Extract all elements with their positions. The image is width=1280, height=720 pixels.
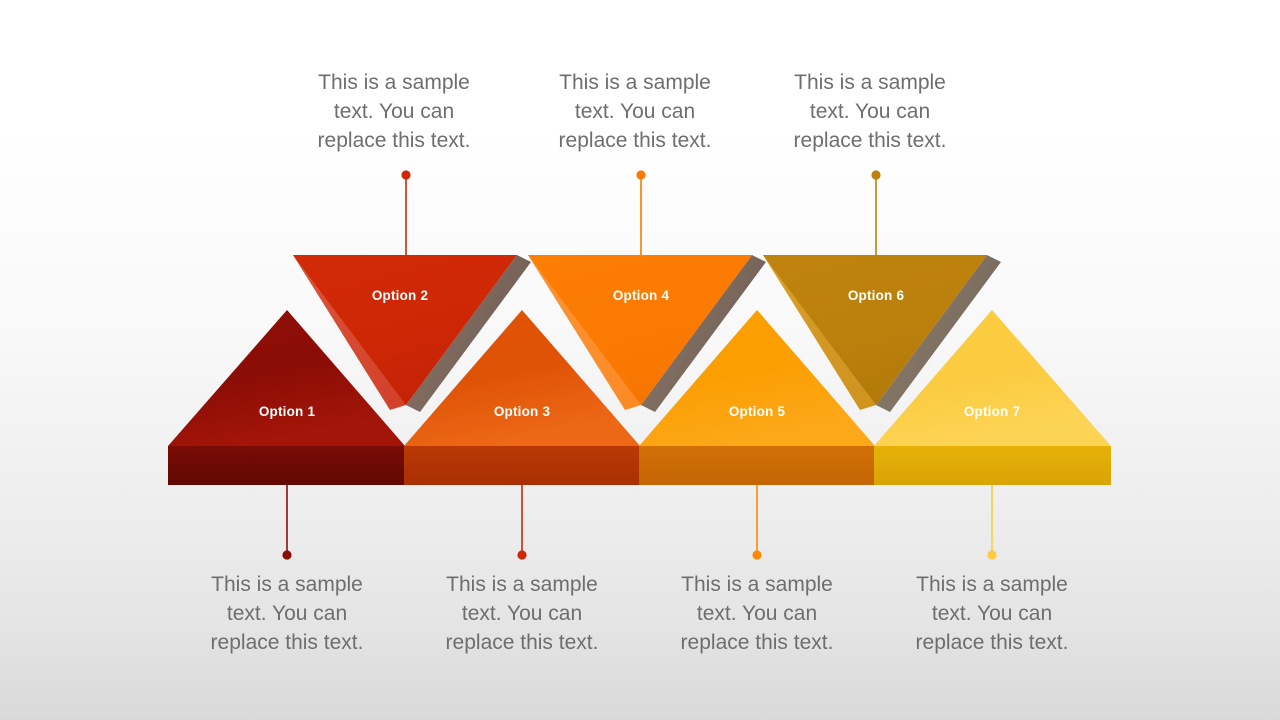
- callout-line-1: This is a sample: [760, 68, 980, 97]
- connector-dot-option-1[interactable]: [282, 550, 291, 559]
- callout-bottom-option-1[interactable]: This is a sample text. You can replace t…: [177, 570, 397, 657]
- option-1-label: Option 1: [259, 404, 316, 419]
- callout-line-3: replace this text.: [882, 628, 1102, 657]
- callout-line-3: replace this text.: [647, 628, 867, 657]
- option-5-label: Option 5: [729, 404, 786, 419]
- connector-dot-option-5[interactable]: [752, 550, 761, 559]
- option-7-base: [874, 446, 1111, 485]
- callout-top-option-2[interactable]: This is a sample text. You can replace t…: [284, 68, 504, 155]
- option-7-label: Option 7: [964, 404, 1020, 419]
- callout-line-1: This is a sample: [284, 68, 504, 97]
- callout-line-2: text. You can: [525, 97, 745, 126]
- connector-dot-option-7[interactable]: [987, 550, 996, 559]
- option-3-label: Option 3: [494, 404, 551, 419]
- connector-dot-option-2[interactable]: [401, 170, 410, 179]
- callout-line-1: This is a sample: [882, 570, 1102, 599]
- option-2-label: Option 2: [372, 288, 428, 303]
- callout-bottom-option-3[interactable]: This is a sample text. You can replace t…: [412, 570, 632, 657]
- option-4-label: Option 4: [613, 288, 670, 303]
- connector-dot-option-4[interactable]: [636, 170, 645, 179]
- callout-line-3: replace this text.: [177, 628, 397, 657]
- callout-line-1: This is a sample: [177, 570, 397, 599]
- callout-line-1: This is a sample: [412, 570, 632, 599]
- connector-dots-bottom: [282, 550, 996, 559]
- connector-dot-option-3[interactable]: [517, 550, 526, 559]
- callout-line-3: replace this text.: [525, 126, 745, 155]
- option-6-label: Option 6: [848, 288, 905, 303]
- callout-line-3: replace this text.: [284, 126, 504, 155]
- option-5-base: [639, 446, 875, 485]
- connector-dot-option-6[interactable]: [871, 170, 880, 179]
- callout-top-option-4[interactable]: This is a sample text. You can replace t…: [525, 68, 745, 155]
- callout-line-3: replace this text.: [412, 628, 632, 657]
- callout-top-option-6[interactable]: This is a sample text. You can replace t…: [760, 68, 980, 155]
- callout-line-1: This is a sample: [647, 570, 867, 599]
- callout-line-1: This is a sample: [525, 68, 745, 97]
- callout-line-2: text. You can: [412, 599, 632, 628]
- slide-canvas: Option 2 Option 4 Option 6 Option 1 O: [0, 0, 1280, 720]
- callout-line-2: text. You can: [760, 97, 980, 126]
- callout-line-2: text. You can: [284, 97, 504, 126]
- option-1-base: [168, 446, 405, 485]
- callout-line-3: replace this text.: [760, 126, 980, 155]
- callout-line-2: text. You can: [647, 599, 867, 628]
- connector-dots-top: [401, 170, 880, 179]
- callout-line-2: text. You can: [882, 599, 1102, 628]
- option-3-base: [404, 446, 640, 485]
- callout-line-2: text. You can: [177, 599, 397, 628]
- callout-bottom-option-5[interactable]: This is a sample text. You can replace t…: [647, 570, 867, 657]
- callout-bottom-option-7[interactable]: This is a sample text. You can replace t…: [882, 570, 1102, 657]
